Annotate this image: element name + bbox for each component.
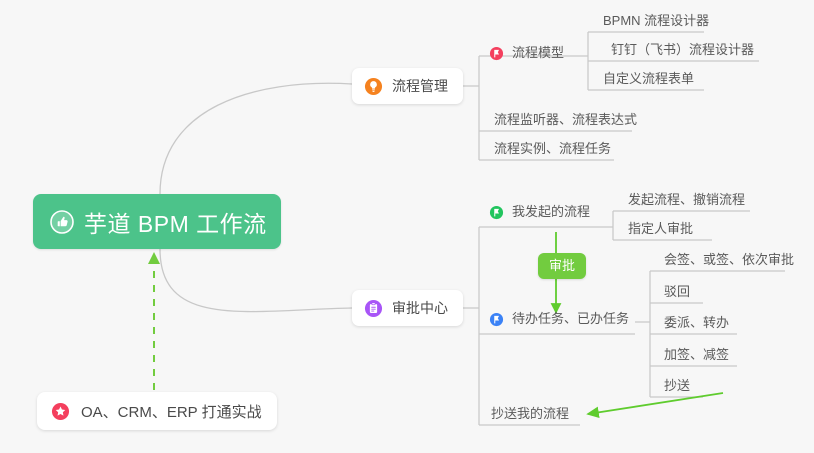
flag-icon	[489, 46, 504, 61]
link-root-to-process-mgmt	[160, 83, 352, 194]
node-label: 加签、减签	[664, 347, 729, 362]
node-label: 驳回	[664, 284, 690, 299]
node-label: 委派、转办	[664, 315, 729, 330]
node-delegate-transfer[interactable]: 委派、转办	[658, 314, 735, 336]
root-label: 芋道 BPM 工作流	[84, 205, 267, 239]
node-process-instance-task[interactable]: 流程实例、流程任务	[488, 140, 617, 162]
flag-icon	[489, 205, 504, 220]
branch-label: 流程管理	[392, 76, 448, 96]
node-custom-process-form[interactable]: 自定义流程表单	[597, 70, 700, 92]
node-add-remove-sign[interactable]: 加签、减签	[658, 346, 735, 368]
node-label: 流程监听器、流程表达式	[494, 112, 637, 127]
node-label: 钉钉（飞书）流程设计器	[611, 42, 754, 57]
node-start-cancel-process[interactable]: 发起流程、撤销流程	[622, 191, 751, 213]
node-my-initiated-process[interactable]: 我发起的流程	[485, 203, 596, 225]
clipboard-icon	[364, 299, 383, 318]
node-label: 指定人审批	[628, 221, 693, 236]
callout-label: OA、CRM、ERP 打通实战	[81, 401, 262, 422]
flag-icon	[489, 312, 504, 327]
node-reject[interactable]: 驳回	[658, 283, 696, 305]
approval-badge[interactable]: 审批	[538, 253, 586, 279]
star-icon	[51, 402, 70, 421]
node-assignee-approval[interactable]: 指定人审批	[622, 220, 699, 242]
node-dingtalk-feishu-designer[interactable]: 钉钉（飞书）流程设计器	[605, 41, 760, 63]
arrow-cc-to-me	[588, 393, 723, 414]
node-label: 会签、或签、依次审批	[664, 252, 794, 267]
node-countersign[interactable]: 会签、或签、依次审批	[658, 251, 800, 273]
callout-integration-note[interactable]: OA、CRM、ERP 打通实战	[37, 392, 277, 430]
mindmap-canvas: 芋道 BPM 工作流 流程管理 流程模型 BPMN 流程设计器 钉钉（飞书）流程…	[0, 0, 814, 453]
badge-label: 审批	[549, 258, 575, 273]
link-root-to-approval-center	[160, 249, 352, 312]
node-label: 流程实例、流程任务	[494, 141, 611, 156]
node-label: 我发起的流程	[512, 203, 590, 221]
node-process-listener-expression[interactable]: 流程监听器、流程表达式	[488, 111, 643, 133]
node-bpmn-designer[interactable]: BPMN 流程设计器	[597, 12, 715, 34]
node-label: 抄送	[664, 378, 690, 393]
node-cc[interactable]: 抄送	[658, 377, 696, 399]
node-label: 自定义流程表单	[603, 71, 694, 86]
node-cc-to-me-process[interactable]: 抄送我的流程	[485, 405, 575, 427]
branch-node-approval-center[interactable]: 审批中心	[352, 290, 463, 326]
branch-node-process-management[interactable]: 流程管理	[352, 68, 463, 104]
node-label: 发起流程、撤销流程	[628, 192, 745, 207]
thumbs-up-icon	[50, 210, 74, 234]
root-node[interactable]: 芋道 BPM 工作流	[33, 194, 281, 249]
branch-label: 审批中心	[392, 298, 448, 318]
node-todo-done-tasks[interactable]: 待办任务、已办任务	[485, 310, 635, 332]
lightbulb-icon	[364, 77, 383, 96]
node-label: BPMN 流程设计器	[603, 13, 709, 28]
node-label: 抄送我的流程	[491, 406, 569, 421]
node-process-model[interactable]: 流程模型	[485, 44, 570, 66]
node-label: 待办任务、已办任务	[512, 310, 629, 328]
node-label: 流程模型	[512, 44, 564, 62]
